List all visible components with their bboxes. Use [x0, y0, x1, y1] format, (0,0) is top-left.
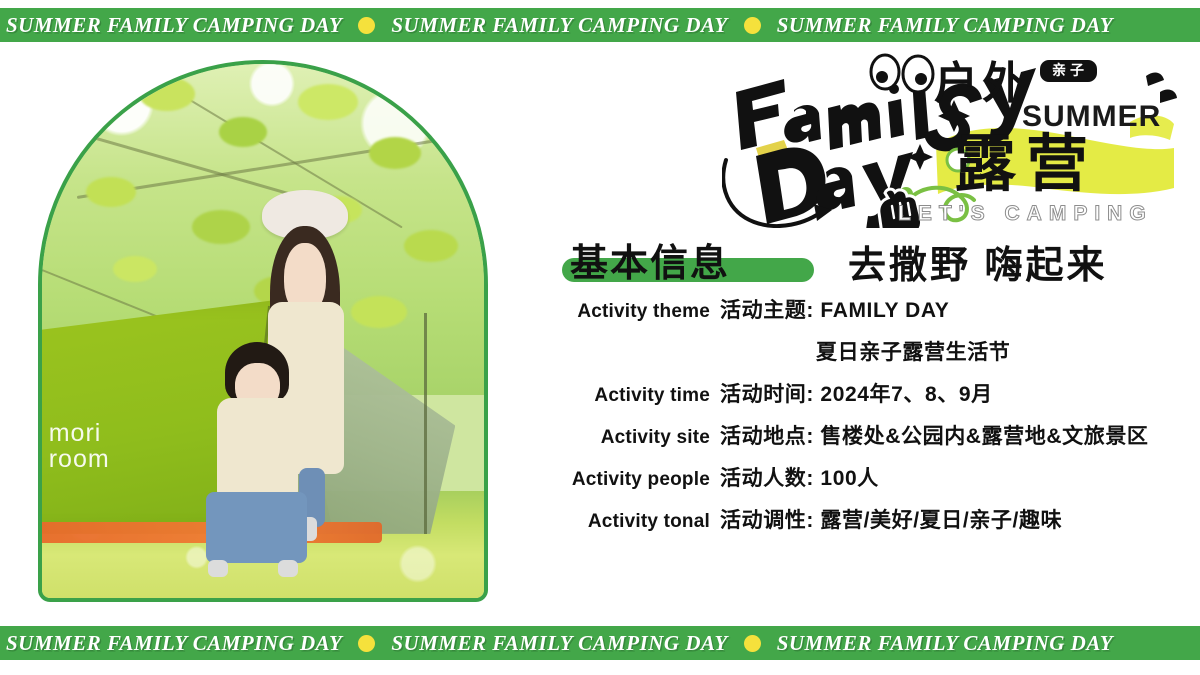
info-row-value-cn: 活动调性: 露营/美好/夏日/亲子/趣味 [720, 504, 1062, 534]
banner-text: SUMMER FAMILY CAMPING DAY [4, 13, 344, 38]
info-row-value-cn: 活动地点: 售楼处&公园内&露营地&文旅景区 [720, 420, 1149, 450]
info-row-value-cn: 活动人数: 100人 [720, 462, 879, 492]
bottom-marquee-track: SUMMER FAMILY CAMPING DAY SUMMER FAMILY … [0, 631, 1115, 656]
info-row: Activity site 活动地点: 售楼处&公园内&露营地&文旅景区 [548, 420, 1178, 450]
info-row-value-cn: 活动主题: FAMILY DAY [720, 294, 949, 324]
info-row: Activity theme 活动主题: FAMILY DAY [548, 294, 1178, 324]
info-row-label-en: Activity people [548, 469, 710, 491]
info-row-label-en: Activity theme [548, 301, 710, 323]
yellow-dot-icon [358, 635, 375, 652]
tent-pole [424, 313, 427, 534]
tent-brand-text: moriroom [49, 421, 110, 472]
logo-hanwai-text: 户外 [934, 62, 1030, 106]
hero-photo: moriroom [42, 64, 484, 598]
banner-text: SUMMER FAMILY CAMPING DAY [775, 13, 1115, 38]
info-row: 夏日亲子露营生活节 [548, 336, 1178, 366]
logo-summer-text: SUMMER [1022, 100, 1161, 134]
photo-child-boy [201, 342, 312, 577]
banner-text: SUMMER FAMILY CAMPING DAY [775, 631, 1115, 656]
logo-qinzi-badge: 亲子 [1040, 60, 1097, 82]
info-row: Activity tonal 活动调性: 露营/美好/夏日/亲子/趣味 [548, 504, 1178, 534]
bottom-marquee-banner: SUMMER FAMILY CAMPING DAY SUMMER FAMILY … [0, 626, 1200, 660]
boy-shoe-left [208, 560, 228, 576]
boy-shoe-right [278, 560, 298, 576]
logo-lets-camping-text: LET'S CAMPING [898, 202, 1153, 226]
top-marquee-track: SUMMER FAMILY CAMPING DAY SUMMER FAMILY … [0, 13, 1115, 38]
info-row-value-cn: 活动时间: 2024年7、8、9月 [720, 378, 993, 408]
section-headline: 基本信息 去撒野 嗨起来 [548, 232, 1178, 286]
hero-photo-frame: moriroom [38, 60, 488, 602]
info-row-label-en: Activity tonal [548, 511, 710, 533]
info-rows: Activity theme 活动主题: FAMILY DAY 夏日亲子露营生活… [548, 294, 1178, 534]
info-row: Activity people 活动人数: 100人 [548, 462, 1178, 492]
yellow-dot-icon [744, 17, 761, 34]
banner-text: SUMMER FAMILY CAMPING DAY [389, 631, 729, 656]
info-row-value-cn: 夏日亲子露营生活节 [816, 336, 1010, 366]
banner-text: SUMMER FAMILY CAMPING DAY [4, 631, 344, 656]
yellow-dot-icon [744, 635, 761, 652]
slogan-text: 去撒野 嗨起来 [848, 234, 1108, 289]
info-row: Activity time 活动时间: 2024年7、8、9月 [548, 378, 1178, 408]
basic-info-section: 基本信息 去撒野 嗨起来 Activity theme 活动主题: FAMILY… [548, 232, 1178, 546]
poster-root: SUMMER FAMILY CAMPING DAY SUMMER FAMILY … [0, 0, 1200, 675]
info-row-label-en: Activity site [548, 427, 710, 449]
top-marquee-banner: SUMMER FAMILY CAMPING DAY SUMMER FAMILY … [0, 8, 1200, 42]
section-title: 基本信息 [570, 232, 730, 287]
info-row-label-en: Activity time [548, 385, 710, 407]
boy-pants [206, 492, 308, 562]
event-logo-cluster: 户外 亲子 SUMMER 露营 LET'S CAMPING [722, 48, 1184, 228]
banner-text: SUMMER FAMILY CAMPING DAY [389, 13, 729, 38]
boy-outfit [217, 398, 299, 501]
yellow-dot-icon [358, 17, 375, 34]
logo-luying-text: 露营 [954, 134, 1098, 196]
